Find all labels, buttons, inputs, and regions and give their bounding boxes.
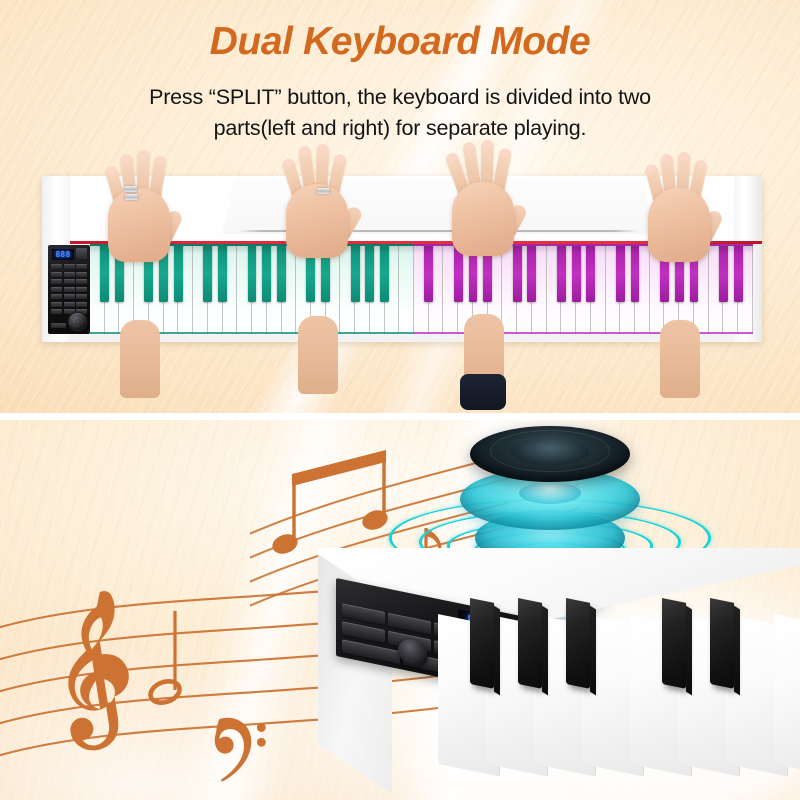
black-key[interactable] [616,244,625,302]
black-key[interactable] [572,244,581,302]
control-button[interactable] [76,287,87,292]
rotary-knob[interactable] [69,313,86,330]
control-button[interactable] [64,302,75,307]
black-key[interactable] [174,244,183,302]
control-button[interactable] [76,294,87,299]
infographic-page: Dual Keyboard Mode Press “SPLIT” button,… [0,0,800,800]
digital-piano-angled-view: 888 [318,548,800,800]
bass-clef-icon [215,718,266,782]
page-title-dual-keyboard-mode: Dual Keyboard Mode [0,20,800,64]
subtitle-line-2: parts(left and right) for separate playi… [52,113,748,144]
black-key[interactable] [631,244,640,302]
forearm [120,320,160,398]
white-key-angled[interactable] [774,614,800,777]
control-button[interactable] [64,287,75,292]
control-button[interactable] [76,279,87,284]
control-button[interactable] [51,309,62,314]
control-button[interactable] [76,272,87,277]
black-key-angled[interactable] [566,598,590,689]
control-button[interactable] [51,279,62,284]
black-key-angled[interactable] [518,598,542,689]
treble-clef-icon [68,591,129,750]
black-key[interactable] [203,244,212,302]
palm [452,182,514,256]
black-key[interactable] [365,244,374,302]
black-key[interactable] [218,244,227,302]
half-note-icon [147,611,182,707]
finger-ring [125,194,138,200]
black-key[interactable] [557,244,566,302]
black-key[interactable] [277,244,286,302]
control-button[interactable] [51,272,62,277]
control-button[interactable] [76,264,87,269]
black-key[interactable] [262,244,271,302]
control-button-row[interactable] [51,302,87,307]
piano-keys-angled[interactable] [438,568,800,800]
black-key[interactable] [586,244,595,302]
bottom-panel-dual-speakers: Dual Speakers for Clear Sound [0,420,800,800]
speaker-top-cover [470,426,630,482]
control-button-row[interactable] [51,294,87,299]
led-display-value: 888 [55,250,70,259]
black-key[interactable] [424,244,433,302]
black-key[interactable] [351,244,360,302]
dark-sleeve [460,374,506,410]
black-key[interactable] [734,244,743,302]
forearm [660,320,700,398]
black-key[interactable] [527,244,536,302]
panel-divider [0,413,800,420]
led-display: 888 [52,249,74,260]
control-button[interactable] [51,302,62,307]
brand-logo-icon [76,248,87,259]
palm [108,188,170,262]
black-key-angled[interactable] [662,598,686,689]
palm [286,184,348,258]
palm [648,188,710,262]
finger-ring [124,186,137,192]
subtitle-line-1: Press “SPLIT” button, the keyboard is di… [52,82,748,113]
black-key[interactable] [719,244,728,302]
control-button[interactable] [64,264,75,269]
control-button-row[interactable] [51,287,87,292]
black-key[interactable] [380,244,389,302]
control-button-grid[interactable] [51,264,87,317]
control-panel[interactable]: 888 [48,245,90,334]
control-button[interactable] [51,287,62,292]
black-key-angled[interactable] [710,598,734,689]
control-button[interactable] [64,294,75,299]
control-button-row[interactable] [51,279,87,284]
finger-ring [317,188,330,194]
control-button-row[interactable] [51,264,87,269]
black-key[interactable] [513,244,522,302]
black-key[interactable] [100,244,109,302]
control-button[interactable] [76,302,87,307]
black-key[interactable] [248,244,257,302]
control-button-row[interactable] [51,272,87,277]
subtitle-block: Press “SPLIT” button, the keyboard is di… [52,82,748,144]
black-key-angled[interactable] [470,598,494,689]
top-panel-dual-keyboard-mode: Dual Keyboard Mode Press “SPLIT” button,… [0,0,800,413]
control-button[interactable] [64,272,75,277]
control-button[interactable] [64,279,75,284]
control-button[interactable] [51,264,62,269]
control-wide-button[interactable] [51,323,66,328]
control-button[interactable] [51,294,62,299]
forearm [298,316,338,394]
